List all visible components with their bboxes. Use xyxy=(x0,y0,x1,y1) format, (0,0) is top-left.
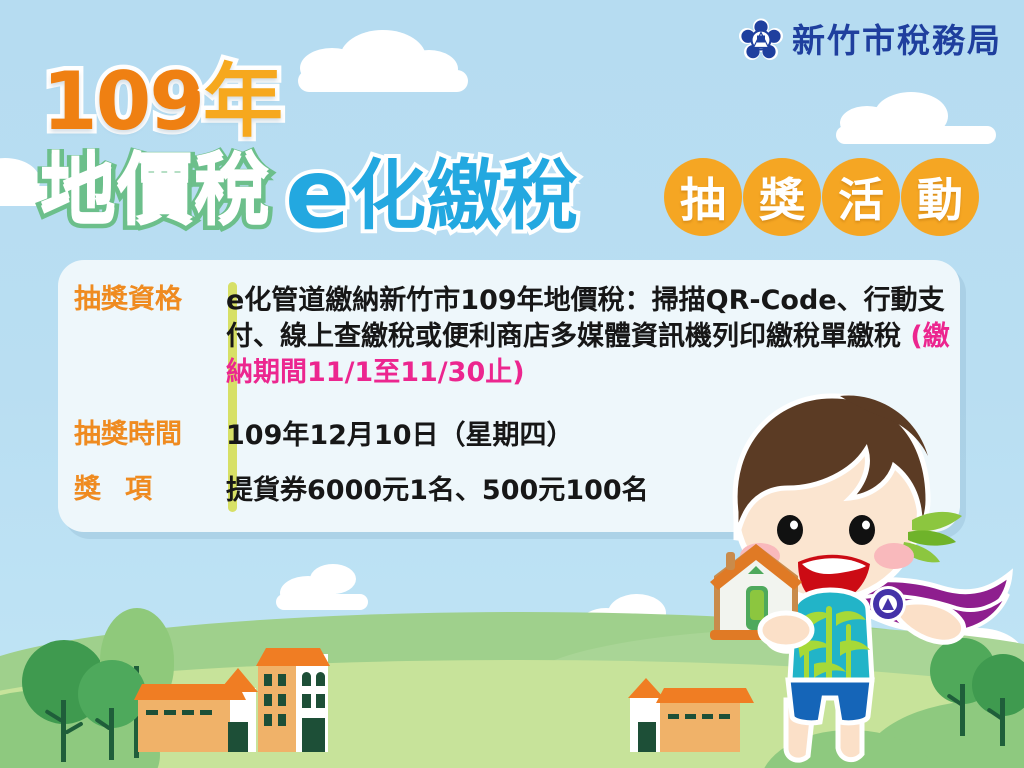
row-label-prizes: 獎項 xyxy=(74,473,226,509)
tax-bureau-boy-mascot xyxy=(690,392,1020,768)
title-year-suffix: 年 xyxy=(203,55,281,148)
title-epay-rest: 化繳稅 xyxy=(350,151,578,240)
row-value-draw-time: 109年12月10日（星期四） xyxy=(226,418,574,454)
title-year-number: 109 xyxy=(42,55,203,148)
badge-char: 獎 xyxy=(743,158,821,236)
title-e-letter: e xyxy=(285,138,350,250)
hsinchu-tax-bureau-emblem-icon xyxy=(739,18,783,62)
title-year: 109年 xyxy=(42,62,281,142)
eye xyxy=(777,515,803,545)
row-value-prizes: 提貨券6000元1名、500元100名 xyxy=(226,473,649,509)
row-label-draw-time: 抽獎時間 xyxy=(74,418,226,454)
blush xyxy=(874,543,914,569)
row-value-eligibility: e化管道繳納新竹市109年地價稅：掃描QR-Code、行動支付、線上查繳稅或便利… xyxy=(226,283,956,391)
eligibility-text: e化管道繳納新竹市109年地價稅：掃描QR-Code、行動支付、線上查繳稅或便利… xyxy=(226,285,945,352)
badge-char: 抽 xyxy=(664,158,742,236)
blue-shorts xyxy=(788,680,872,723)
table-row: 獎項 提貨券6000元1名、500元100名 xyxy=(74,473,649,509)
lottery-badge-group: 抽 獎 活 動 xyxy=(664,158,979,236)
table-row: 抽獎資格 e化管道繳納新竹市109年地價稅：掃描QR-Code、行動支付、線上查… xyxy=(74,283,956,391)
table-row: 抽獎時間 109年12月10日（星期四） xyxy=(74,418,574,454)
cape-emblem-icon xyxy=(870,586,906,622)
badge-char: 動 xyxy=(901,158,979,236)
row-label-eligibility: 抽獎資格 xyxy=(74,283,226,391)
badge-char: 活 xyxy=(822,158,900,236)
bureau-logo: 新竹市稅務局 xyxy=(739,18,1002,62)
bureau-name: 新竹市稅務局 xyxy=(792,24,1002,57)
hand xyxy=(760,613,812,647)
eye xyxy=(849,515,875,545)
poster-canvas: 新竹市稅務局 109年 地價稅 e化繳稅 地價稅 抽 獎 活 動 抽獎資格 e化… xyxy=(0,0,1024,768)
title-epay: e化繳稅 xyxy=(285,150,578,234)
title-land-tax-fill: 地價稅 xyxy=(40,150,271,226)
